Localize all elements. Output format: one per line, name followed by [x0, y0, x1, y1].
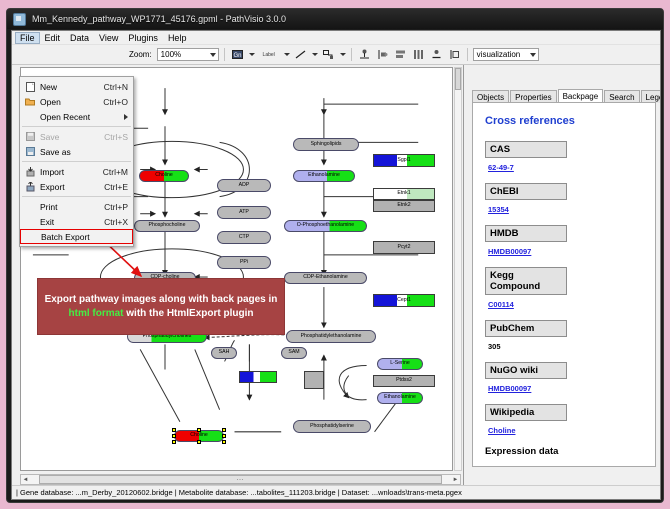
- line-tool-icon[interactable]: [293, 47, 308, 62]
- gene-node-ptdss2[interactable]: Ptdss2: [373, 375, 435, 387]
- canvas-horizontal-scrollbar[interactable]: ◄ ⋯ ►: [20, 474, 461, 485]
- metabolite-node-sah[interactable]: SAH: [211, 347, 237, 359]
- side-panel-scrollbar[interactable]: [465, 102, 472, 467]
- connector-tool-icon[interactable]: [321, 47, 336, 62]
- toolbar-separator-2: [351, 48, 352, 61]
- file-menu-item-label: Batch Export: [38, 232, 127, 242]
- node-label: L-Serine: [390, 361, 410, 366]
- metabolite-node-ethanolamine-top[interactable]: Ethanolamine: [293, 170, 355, 182]
- status-bar: | Gene database: ...m_Derby_20120602.bri…: [12, 485, 660, 499]
- menu-plugins[interactable]: Plugins: [123, 32, 163, 44]
- metabolite-node-phosphatidylserine[interactable]: Phosphatidylserine: [293, 420, 371, 433]
- svg-text:Gn: Gn: [233, 53, 241, 59]
- shape-tool-icon[interactable]: Gn: [230, 47, 245, 62]
- label-tool-icon[interactable]: Label: [258, 47, 280, 62]
- desktop-background: Mm_Kennedy_pathway_WP1771_45176.gpml - P…: [0, 0, 670, 509]
- zoom-value: 100%: [161, 50, 181, 59]
- menu-file[interactable]: File: [15, 32, 40, 44]
- node-label: Phosphocholine: [149, 223, 186, 228]
- file-menu-item-label: Save: [37, 132, 104, 142]
- tool-bar: Zoom: 100% Gn Label: [12, 45, 660, 65]
- submenu-arrow-icon: [124, 114, 128, 120]
- metabolite-node-l-serine[interactable]: L-Serine: [377, 358, 423, 370]
- label-tool-text: Label: [263, 52, 275, 58]
- xref-header-pubchem: PubChem: [485, 320, 567, 337]
- selection-handle[interactable]: [172, 434, 176, 438]
- gene-node-etnk2[interactable]: Etnk2: [373, 200, 435, 212]
- file-menu-item-label: Export: [37, 182, 104, 192]
- file-menu-item-print[interactable]: PrintCtrl+P: [20, 199, 133, 214]
- metabolite-node-cdp-ethanolamine[interactable]: CDP-Ethanolamine: [284, 272, 367, 284]
- file-menu-item-save-as[interactable]: Save as: [20, 144, 133, 159]
- metabolite-node-o-phosphoethanolamine[interactable]: O-Phosphoethanolamine: [284, 220, 367, 232]
- cross-references-title: Cross references: [485, 115, 645, 127]
- xref-header-nugo-wiki: NuGO wiki: [485, 362, 567, 379]
- line-tool-dropdown-icon[interactable]: [312, 53, 318, 56]
- metabolite-node-choline-top[interactable]: Choline: [139, 170, 189, 182]
- file-menu-item-label: Open: [37, 97, 103, 107]
- gene-node-cept1[interactable]: Cept1: [373, 294, 435, 307]
- node-label: Ethanolamine: [308, 173, 340, 178]
- node-label: Cept1: [397, 298, 411, 303]
- metabolite-node-phosphatidylethanolamine[interactable]: Phosphatidylethanolamine: [286, 330, 376, 343]
- xref-header-chebi: ChEBI: [485, 183, 567, 200]
- file-menu-dropdown[interactable]: NewCtrl+NOpenCtrl+OOpen RecentSaveCtrl+S…: [19, 76, 134, 247]
- stack-icon[interactable]: [429, 47, 444, 62]
- node-label: Choline: [190, 433, 208, 438]
- file-menu-item-shortcut: Ctrl+X: [104, 217, 130, 227]
- gene-node-pemt[interactable]: [239, 371, 277, 383]
- node-label: Sphingolipids: [311, 142, 342, 147]
- metabolite-node-ppi[interactable]: PPi: [217, 256, 271, 269]
- file-menu-item-label: Print: [37, 202, 104, 212]
- file-menu-item-open[interactable]: OpenCtrl+O: [20, 94, 133, 109]
- file-menu-item-exit[interactable]: ExitCtrl+X: [20, 214, 133, 229]
- selection-handle[interactable]: [172, 440, 176, 444]
- xref-value-nugo-wiki[interactable]: HMDB00097: [488, 384, 645, 393]
- node-label: Ptdss2: [396, 378, 412, 383]
- zoom-label: Zoom:: [129, 50, 152, 59]
- menu-separator: [22, 161, 131, 162]
- expression-data-title: Expression data: [485, 446, 645, 457]
- node-label: SAH: [219, 350, 230, 355]
- menu-view[interactable]: View: [94, 32, 123, 44]
- import-icon: [23, 167, 37, 177]
- tab-backpage[interactable]: Backpage: [558, 89, 604, 103]
- metabolite-node-ctp[interactable]: CTP: [217, 231, 271, 244]
- node-label: ADP: [239, 183, 250, 188]
- file-menu-item-save: SaveCtrl+S: [20, 129, 133, 144]
- metabolite-node-sam[interactable]: SAM: [281, 347, 307, 359]
- backpage-content: Cross references CAS62-49-7ChEBI15354HMD…: [472, 102, 656, 467]
- xref-link[interactable]: 62-49-7: [488, 163, 514, 172]
- xref-header-kegg-compound: Kegg Compound: [485, 267, 567, 295]
- node-label: Sgpl1: [397, 158, 410, 163]
- zoom-combobox[interactable]: 100%: [157, 48, 219, 61]
- file-menu-item-new[interactable]: NewCtrl+N: [20, 79, 133, 94]
- file-menu-item-label: Open Recent: [37, 112, 124, 122]
- connector-tool-dropdown-icon[interactable]: [340, 53, 346, 56]
- selection-handle[interactable]: [197, 428, 201, 432]
- export-icon: [23, 182, 37, 192]
- gene-node-ptdss1[interactable]: [304, 371, 324, 389]
- file-menu-item-import[interactable]: ImportCtrl+M: [20, 164, 133, 179]
- file-menu-item-label: Import: [37, 167, 103, 177]
- xref-link[interactable]: Choline: [488, 426, 516, 435]
- cross-reference-list: CAS62-49-7ChEBI15354HMDBHMDB00097Kegg Co…: [485, 141, 645, 435]
- xref-header-wikipedia: Wikipedia: [485, 404, 567, 421]
- visualization-value: visualization: [477, 50, 521, 59]
- canvas-vertical-scroll-thumb[interactable]: [455, 68, 461, 90]
- folder-icon: [23, 97, 37, 106]
- node-label: PPi: [240, 260, 248, 265]
- file-menu-item-shortcut: Ctrl+N: [104, 82, 130, 92]
- toolbar-separator-3: [467, 48, 468, 61]
- menu-help[interactable]: Help: [163, 32, 192, 44]
- gene-node-etnk1[interactable]: Etnk1: [373, 188, 435, 200]
- callout-pre: Export pathway images along with back pa…: [45, 294, 278, 305]
- canvas-horizontal-scroll-thumb[interactable]: ⋯: [39, 475, 442, 484]
- chevron-down-icon-2: [530, 53, 536, 57]
- xref-link[interactable]: HMDB00097: [488, 384, 531, 393]
- file-menu-item-shortcut: Ctrl+S: [104, 132, 130, 142]
- align-left-icon[interactable]: [375, 47, 390, 62]
- xref-value-hmdb[interactable]: HMDB00097: [488, 247, 645, 256]
- title-bar: Mm_Kennedy_pathway_WP1771_45176.gpml - P…: [7, 9, 663, 29]
- node-label: CTP: [239, 235, 249, 240]
- metabolite-node-adp[interactable]: ADP: [217, 179, 271, 192]
- align-center-icon[interactable]: [393, 47, 408, 62]
- file-menu-item-label: Exit: [37, 217, 104, 227]
- distribute-icon[interactable]: [411, 47, 426, 62]
- menu-separator: [22, 196, 131, 197]
- status-text: | Gene database: ...m_Derby_20120602.bri…: [16, 488, 462, 497]
- label-tool-dropdown-icon[interactable]: [284, 53, 290, 56]
- file-menu-item-shortcut: Ctrl+M: [103, 167, 130, 177]
- node-label: Choline: [155, 173, 173, 178]
- chevron-down-icon: [210, 53, 216, 57]
- callout-post: with the HtmlExport plugin: [124, 308, 254, 319]
- gene-node-sgpl1[interactable]: Sgpl1: [373, 154, 435, 167]
- xref-link[interactable]: 15354: [488, 205, 509, 214]
- node-label: Etnk2: [397, 203, 410, 208]
- selection-handle[interactable]: [197, 440, 201, 444]
- pathvisio-icon: [13, 13, 26, 26]
- xref-value-chebi[interactable]: 15354: [488, 205, 645, 214]
- scroll-right-icon[interactable]: ►: [451, 477, 460, 483]
- window-title: Mm_Kennedy_pathway_WP1771_45176.gpml - P…: [32, 14, 286, 24]
- node-label: SAM: [288, 350, 299, 355]
- selection-handle[interactable]: [222, 440, 226, 444]
- file-menu-item-shortcut: Ctrl+E: [104, 182, 130, 192]
- node-label: Pcyt2: [398, 245, 411, 250]
- application-window: Mm_Kennedy_pathway_WP1771_45176.gpml - P…: [6, 8, 664, 503]
- file-menu-item-label: Save as: [37, 147, 128, 157]
- metabolite-node-phosphocholine[interactable]: Phosphocholine: [134, 220, 200, 232]
- align-top-icon[interactable]: [357, 47, 372, 62]
- menu-bar: File Edit Data View Plugins Help: [12, 31, 660, 45]
- menu-separator: [22, 126, 131, 127]
- node-label: CDP-Ethanolamine: [303, 275, 347, 280]
- scroll-left-icon[interactable]: ◄: [21, 477, 30, 483]
- node-label: Etnk1: [397, 191, 410, 196]
- xref-value-wikipedia[interactable]: Choline: [488, 426, 645, 435]
- visualization-combobox[interactable]: visualization: [473, 48, 539, 61]
- file-menu-item-batch-export[interactable]: Batch Export: [20, 229, 133, 244]
- canvas-vertical-scrollbar[interactable]: [454, 67, 462, 471]
- gene-node-pcyt2[interactable]: Pcyt2: [373, 241, 435, 254]
- menu-edit[interactable]: Edit: [40, 32, 66, 44]
- xref-header-hmdb: HMDB: [485, 225, 567, 242]
- file-menu-item-shortcut: Ctrl+P: [104, 202, 130, 212]
- metabolite-node-sphingolipids[interactable]: Sphingolipids: [293, 138, 359, 151]
- shape-tool-dropdown-icon[interactable]: [249, 53, 255, 56]
- toolbar-separator: [224, 48, 225, 61]
- selection-handle[interactable]: [172, 428, 176, 432]
- callout-highlight: html format: [69, 308, 124, 319]
- file-menu-item-shortcut: Ctrl+O: [103, 97, 130, 107]
- file-menu-item-open-recent[interactable]: Open Recent: [20, 109, 133, 124]
- app-container: File Edit Data View Plugins Help Zoom: 1…: [11, 30, 661, 500]
- file-menu-item-export[interactable]: ExportCtrl+E: [20, 179, 133, 194]
- xref-value-cas[interactable]: 62-49-7: [488, 163, 645, 172]
- xref-link[interactable]: C00114: [488, 300, 514, 309]
- node-label: ATP: [239, 210, 249, 215]
- node-label: Phosphatidylserine: [310, 424, 354, 429]
- xref-value-pubchem: 305: [488, 342, 645, 351]
- node-label: O-Phosphoethanolamine: [297, 223, 354, 228]
- save-as-icon: [23, 147, 37, 156]
- metabolite-node-ethanolamine-low[interactable]: Ethanolamine: [377, 392, 423, 404]
- new-file-icon: [23, 82, 37, 92]
- selection-handle[interactable]: [222, 434, 226, 438]
- metabolite-node-atp[interactable]: ATP: [217, 206, 271, 219]
- side-panel: Objects Properties Backpage Search Legen…: [464, 65, 660, 499]
- node-label: Ethanolamine: [384, 395, 416, 400]
- xref-value-kegg-compound[interactable]: C00114: [488, 300, 645, 309]
- file-menu-item-label: New: [37, 82, 104, 92]
- xref-link[interactable]: HMDB00097: [488, 247, 531, 256]
- selection-handle[interactable]: [222, 428, 226, 432]
- callout-annotation: Export pathway images along with back pa…: [37, 278, 285, 335]
- menu-data[interactable]: Data: [65, 32, 94, 44]
- node-label: Phosphatidylethanolamine: [301, 334, 362, 339]
- canvas-left-gutter: [12, 67, 19, 471]
- group-icon[interactable]: [447, 47, 462, 62]
- side-panel-tabs: Objects Properties Backpage Search Legen…: [472, 89, 656, 103]
- save-icon: [23, 132, 37, 141]
- xref-header-cas: CAS: [485, 141, 567, 158]
